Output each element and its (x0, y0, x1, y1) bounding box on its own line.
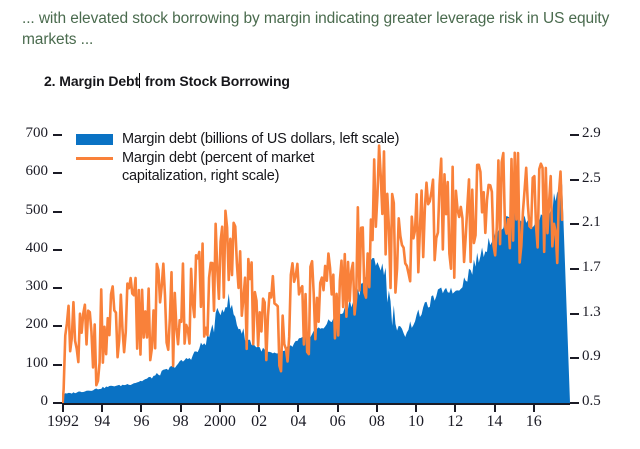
chart-title-suffix: from Stock Borrowing (145, 73, 290, 89)
chart-title-prefix: 2. Margin Debt (44, 73, 139, 89)
chart-page: ... with elevated stock borrowing by mar… (0, 0, 640, 449)
legend-item-line: Margin debt (percent of market capitaliz… (76, 149, 399, 185)
y-axis-left-tick (53, 134, 62, 136)
y-axis-left-label: 200 (26, 316, 49, 333)
x-axis-tick (62, 405, 64, 412)
x-axis-label: 08 (369, 413, 385, 431)
y-axis-left-tick (53, 172, 62, 174)
y-axis-left-tick (53, 325, 62, 327)
text-caret (139, 73, 140, 88)
y-axis-left-tick (53, 249, 62, 251)
x-axis-tick (376, 405, 378, 412)
y-axis-right-label: 2.5 (582, 170, 601, 187)
y-axis-left-tick (53, 211, 62, 213)
legend-area-swatch-icon (76, 134, 113, 145)
y-axis-left-tick (53, 364, 62, 366)
y-axis-right-label: 1.7 (582, 259, 601, 276)
y-axis-right-label: 0.9 (582, 348, 601, 365)
x-axis-tick (258, 405, 260, 412)
x-axis-tick (337, 405, 339, 412)
x-axis-label: 06 (330, 413, 346, 431)
header-caption: ... with elevated stock borrowing by mar… (22, 8, 622, 50)
x-axis-tick (454, 405, 456, 412)
chart-legend: Margin debt (billions of US dollars, lef… (76, 130, 399, 186)
y-axis-left-label: 500 (26, 202, 49, 219)
x-axis-label: 96 (133, 413, 149, 431)
x-axis-label: 1992 (47, 413, 79, 431)
y-axis-right-label: 2.9 (582, 125, 601, 142)
x-axis-label: 14 (487, 413, 503, 431)
y-axis-right-label: 1.3 (582, 304, 601, 321)
y-axis-left-label: 300 (26, 278, 49, 295)
y-axis-left-tick (53, 287, 62, 289)
x-axis-label: 2000 (204, 413, 236, 431)
page-title: 2. Margin Debt from Stock Borrowing (44, 73, 290, 89)
x-axis-label: 16 (526, 413, 542, 431)
legend-label-line: Margin debt (percent of market capitaliz… (122, 149, 314, 185)
y-axis-right-tick (570, 313, 579, 315)
x-axis-tick (101, 405, 103, 412)
y-axis-left-label: 0 (41, 393, 49, 410)
legend-label-area: Margin debt (billions of US dollars, lef… (122, 130, 399, 148)
y-axis-left-tick (53, 402, 62, 404)
legend-line-swatch-icon (76, 157, 113, 160)
x-axis-tick (140, 405, 142, 412)
x-axis-tick (533, 405, 535, 412)
y-axis-right-tick (570, 223, 579, 225)
y-axis-left-label: 700 (26, 125, 49, 142)
x-axis-label: 12 (447, 413, 463, 431)
x-axis-tick (415, 405, 417, 412)
chart-container: Margin debt (billions of US dollars, lef… (0, 110, 640, 449)
x-axis-label: 94 (94, 413, 110, 431)
x-axis-label: 10 (408, 413, 424, 431)
y-axis-right-tick (570, 402, 579, 404)
x-axis-tick (494, 405, 496, 412)
x-axis-label: 04 (290, 413, 306, 431)
y-axis-right-tick (570, 179, 579, 181)
x-axis-tick (180, 405, 182, 412)
y-axis-right-tick (570, 134, 579, 136)
legend-item-area: Margin debt (billions of US dollars, lef… (76, 130, 399, 148)
y-axis-right-label: 0.5 (582, 393, 601, 410)
y-axis-left-label: 400 (26, 240, 49, 257)
y-axis-left-label: 100 (26, 355, 49, 372)
y-axis-right-tick (570, 357, 579, 359)
x-axis-tick (219, 405, 221, 412)
x-axis-label: 98 (173, 413, 189, 431)
x-axis-label: 02 (251, 413, 267, 431)
y-axis-left-label: 600 (26, 163, 49, 180)
y-axis-right-label: 2.1 (582, 214, 601, 231)
y-axis-right-tick (570, 268, 579, 270)
x-axis-tick (297, 405, 299, 412)
